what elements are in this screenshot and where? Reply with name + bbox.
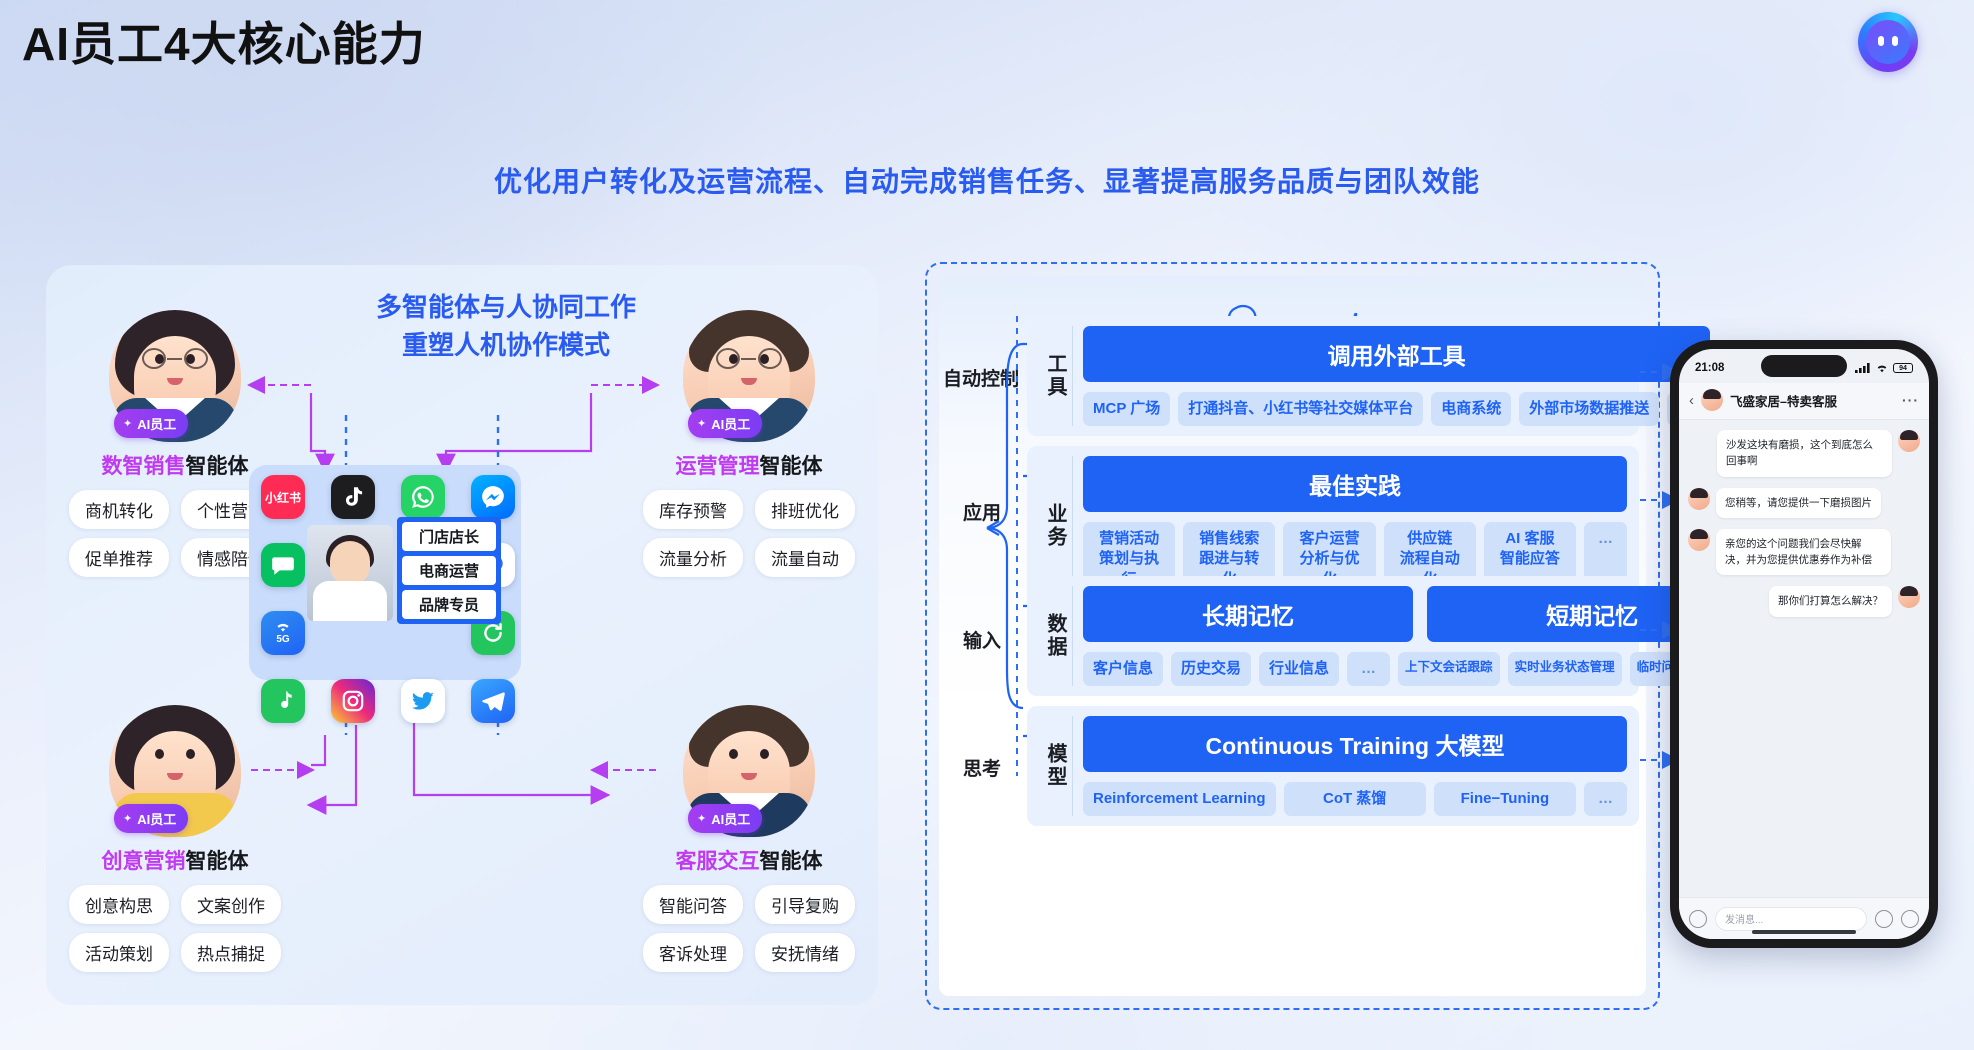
wifi-5g-icon[interactable]: 5G xyxy=(261,611,305,655)
row-data: 数据 长期记忆 短期记忆 客户信息 历史交易 行业信息 … 上下文会话跟踪 xyxy=(1027,576,1639,696)
agent-tags: 库存预警 排班优化 流量分析 流量自动 xyxy=(624,490,874,577)
avatar-icon xyxy=(1898,586,1920,608)
messenger-icon[interactable] xyxy=(471,475,515,519)
agent-tag[interactable]: 客诉处理 xyxy=(643,933,743,972)
wechat-icon[interactable] xyxy=(261,543,305,587)
employee-photo xyxy=(307,525,393,621)
badge-label: AI员工 xyxy=(711,809,750,828)
chip-more[interactable]: … xyxy=(1584,782,1627,816)
agent-name-accent: 数智销售 xyxy=(102,455,186,478)
sparkle-icon: ✦ xyxy=(123,812,132,825)
home-indicator xyxy=(1752,930,1856,934)
message-bubble: 那你们打算怎么解决？ xyxy=(1769,586,1892,616)
agent-tag[interactable]: 创意构思 xyxy=(69,885,169,924)
agent-name: 运营管理智能体 xyxy=(624,450,874,480)
agent-tag[interactable]: 促单推荐 xyxy=(69,538,169,577)
agent-name-rest: 智能体 xyxy=(186,455,249,478)
chat-messages: 沙发这块有磨损，这个到底怎么回事啊 您稍等，请您提供一下磨损图片 亲您的这个问题… xyxy=(1679,420,1929,897)
ai-employee-badge: ✦ AI员工 xyxy=(688,409,762,438)
wifi-icon xyxy=(1875,363,1889,373)
badge-label: AI员工 xyxy=(137,414,176,433)
channel-hub: 小红书 5G xyxy=(249,465,521,680)
row-label: 模型 xyxy=(1039,716,1073,816)
left-panel: 多智能体与人协同工作 重塑人机协作模式 xyxy=(46,265,878,1005)
tiktok-icon[interactable] xyxy=(331,475,375,519)
agent-name-rest: 智能体 xyxy=(186,850,249,873)
chip[interactable]: 打通抖音、小红书等社交媒体平台 xyxy=(1178,392,1423,426)
agent-name: 创意营销智能体 xyxy=(50,845,300,875)
role-item[interactable]: 电商运营 xyxy=(402,556,496,585)
agent-card-service[interactable]: ✦ AI员工 客服交互智能体 智能问答 引导复购 客诉处理 安抚情绪 xyxy=(624,705,874,972)
sparkle-icon: ✦ xyxy=(123,417,132,430)
instagram-icon[interactable] xyxy=(331,679,375,723)
badge-label: AI员工 xyxy=(137,809,176,828)
avatar: ✦ AI员工 xyxy=(674,705,824,837)
badge-label: AI员工 xyxy=(711,414,750,433)
message-bubble: 亲您的这个问题我们会尽快解决，并为您提供优惠券作为补偿 xyxy=(1716,529,1891,576)
telegram-icon[interactable] xyxy=(471,679,515,723)
agent-tag[interactable]: 热点捕捉 xyxy=(181,933,281,972)
row-tools: 工具 调用外部工具 MCP 广场 打通抖音、小红书等社交媒体平台 电商系统 外部… xyxy=(1027,316,1639,436)
chat-message: 沙发这块有磨损，这个到底怎么回事啊 xyxy=(1688,430,1920,477)
chat-message: 那你们打算怎么解决？ xyxy=(1688,586,1920,616)
collaboration-heading: 多智能体与人协同工作 重塑人机协作模式 xyxy=(346,289,666,364)
chip[interactable]: 行业信息 xyxy=(1259,652,1339,686)
agent-tag[interactable]: 流量自动 xyxy=(755,538,855,577)
row-label: 数据 xyxy=(1039,586,1073,686)
row-bar[interactable]: 最佳实践 xyxy=(1083,456,1627,512)
agent-name-rest: 智能体 xyxy=(760,850,823,873)
voice-icon[interactable] xyxy=(1689,910,1707,928)
ai-employee-badge: ✦ AI员工 xyxy=(114,804,188,833)
chip[interactable]: 电商系统 xyxy=(1431,392,1511,426)
twitter-bird-icon[interactable] xyxy=(401,679,445,723)
side-label-thinking: 思考 xyxy=(963,754,1001,781)
chip[interactable]: Reinforcement Learning xyxy=(1083,782,1276,816)
avatar: ✦ AI员工 xyxy=(100,705,250,837)
side-label-auto-control: 自动控制 xyxy=(943,364,1019,391)
avatar: ✦ AI员工 xyxy=(674,310,824,442)
agent-tags: 智能问答 引导复购 客诉处理 安抚情绪 xyxy=(624,885,874,972)
phone-notch xyxy=(1761,355,1847,377)
sparkle-icon: ✦ xyxy=(697,417,706,430)
agent-name: 客服交互智能体 xyxy=(624,845,874,875)
agent-tag[interactable]: 智能问答 xyxy=(643,885,743,924)
douyin-music-icon[interactable] xyxy=(261,679,305,723)
more-dots-icon[interactable]: ··· xyxy=(1902,392,1919,408)
row-chips: MCP 广场 打通抖音、小红书等社交媒体平台 电商系统 外部市场数据推送 … xyxy=(1083,392,1710,426)
agent-tag[interactable]: 引导复购 xyxy=(755,885,855,924)
battery-icon: 94 xyxy=(1893,363,1913,373)
agent-tag[interactable]: 活动策划 xyxy=(69,933,169,972)
avatar-icon xyxy=(1701,389,1723,411)
chip[interactable]: 上下文会话跟踪 xyxy=(1398,652,1500,686)
agent-card-creative[interactable]: ✦ AI员工 创意营销智能体 创意构思 文案创作 活动策划 热点捕捉 xyxy=(50,705,300,972)
ai-employee-badge: ✦ AI员工 xyxy=(114,409,188,438)
heading-line-1: 多智能体与人协同工作 xyxy=(346,289,666,327)
chip[interactable]: Fine−Tuning xyxy=(1434,782,1576,816)
message-input[interactable]: 发消息... xyxy=(1715,907,1867,931)
chat-message: 亲您的这个问题我们会尽快解决，并为您提供优惠券作为补偿 xyxy=(1688,529,1920,576)
chip[interactable]: 历史交易 xyxy=(1171,652,1251,686)
chat-header: ‹ 飞盛家居–特卖客服 ··· xyxy=(1679,383,1929,420)
message-bubble: 沙发这块有磨损，这个到底怎么回事啊 xyxy=(1717,430,1892,477)
row-model: 模型 Continuous Training 大模型 Reinforcement… xyxy=(1027,706,1639,826)
chevron-left-icon[interactable]: ‹ xyxy=(1689,392,1694,409)
avatar-icon xyxy=(1688,488,1710,510)
avatar-icon xyxy=(1688,529,1710,551)
role-item[interactable]: 品牌专员 xyxy=(402,590,496,619)
agent-tags: 创意构思 文案创作 活动策划 热点捕捉 xyxy=(50,885,300,972)
role-item[interactable]: 门店店长 xyxy=(402,522,496,551)
row-label: 工具 xyxy=(1039,326,1073,426)
agent-architecture-panel: AI agent 自动控制 应用 输入 思考 工具 xyxy=(925,262,1660,1010)
agent-tag[interactable]: 安抚情绪 xyxy=(755,933,855,972)
phone-mockup: 21:08 94 ‹ 飞盛家居–特卖客服 ··· 沙发这块有磨损，这个到底怎么回… xyxy=(1670,340,1938,948)
chat-message: 您稍等，请您提供一下磨损图片 xyxy=(1688,488,1920,518)
heading-line-2: 重塑人机协作模式 xyxy=(346,327,666,365)
side-label-application: 应用 xyxy=(963,498,1001,525)
agent-name-accent: 客服交互 xyxy=(676,850,760,873)
agent-name-accent: 创意营销 xyxy=(102,850,186,873)
whatsapp-icon[interactable] xyxy=(401,475,445,519)
page-subtitle: 优化用户转化及运营流程、自动完成销售任务、显著提高服务品质与团队效能 xyxy=(0,160,1974,200)
slide-root: AI员工4大核心能力 优化用户转化及运营流程、自动完成销售任务、显著提高服务品质… xyxy=(0,0,1974,1050)
agent-card-operations[interactable]: ✦ AI员工 运营管理智能体 库存预警 排班优化 流量分析 流量自动 xyxy=(624,310,874,577)
avatar-icon xyxy=(1898,430,1920,452)
signal-icon xyxy=(1855,363,1871,373)
row-bar[interactable]: 调用外部工具 xyxy=(1083,326,1710,382)
status-time: 21:08 xyxy=(1695,362,1724,374)
chat-title: 飞盛家居–特卖客服 xyxy=(1730,391,1837,410)
message-bubble: 您稍等，请您提供一下磨损图片 xyxy=(1716,488,1881,518)
chip[interactable]: 实时业务状态管理 xyxy=(1508,652,1622,686)
plus-icon[interactable] xyxy=(1901,910,1919,928)
chip[interactable]: MCP 广场 xyxy=(1083,392,1170,426)
emoji-icon[interactable] xyxy=(1875,910,1893,928)
xiaohongshu-icon[interactable]: 小红书 xyxy=(261,475,305,519)
row-bar[interactable]: 长期记忆 xyxy=(1083,586,1413,642)
chip-more[interactable]: … xyxy=(1347,652,1390,686)
chip[interactable]: CoT 蒸馏 xyxy=(1284,782,1426,816)
agent-tag[interactable]: 排班优化 xyxy=(755,490,855,529)
agent-name-accent: 运营管理 xyxy=(676,455,760,478)
agent-tag[interactable]: 流量分析 xyxy=(643,538,743,577)
chip[interactable]: 客户信息 xyxy=(1083,652,1163,686)
agent-name-rest: 智能体 xyxy=(760,455,823,478)
avatar: ✦ AI员工 xyxy=(100,310,250,442)
sparkle-icon: ✦ xyxy=(697,812,706,825)
brand-circle-icon xyxy=(1858,12,1918,72)
agent-tag[interactable]: 商机转化 xyxy=(69,490,169,529)
row-bar[interactable]: Continuous Training 大模型 xyxy=(1083,716,1627,772)
side-label-input: 输入 xyxy=(963,626,1001,653)
page-title: AI员工4大核心能力 xyxy=(22,8,426,74)
agent-tag[interactable]: 库存预警 xyxy=(643,490,743,529)
row-chips: Reinforcement Learning CoT 蒸馏 Fine−Tunin… xyxy=(1083,782,1627,816)
ai-employee-badge: ✦ AI员工 xyxy=(688,804,762,833)
agent-tag[interactable]: 文案创作 xyxy=(181,885,281,924)
role-list: 门店店长 电商运营 品牌专员 xyxy=(397,517,501,624)
